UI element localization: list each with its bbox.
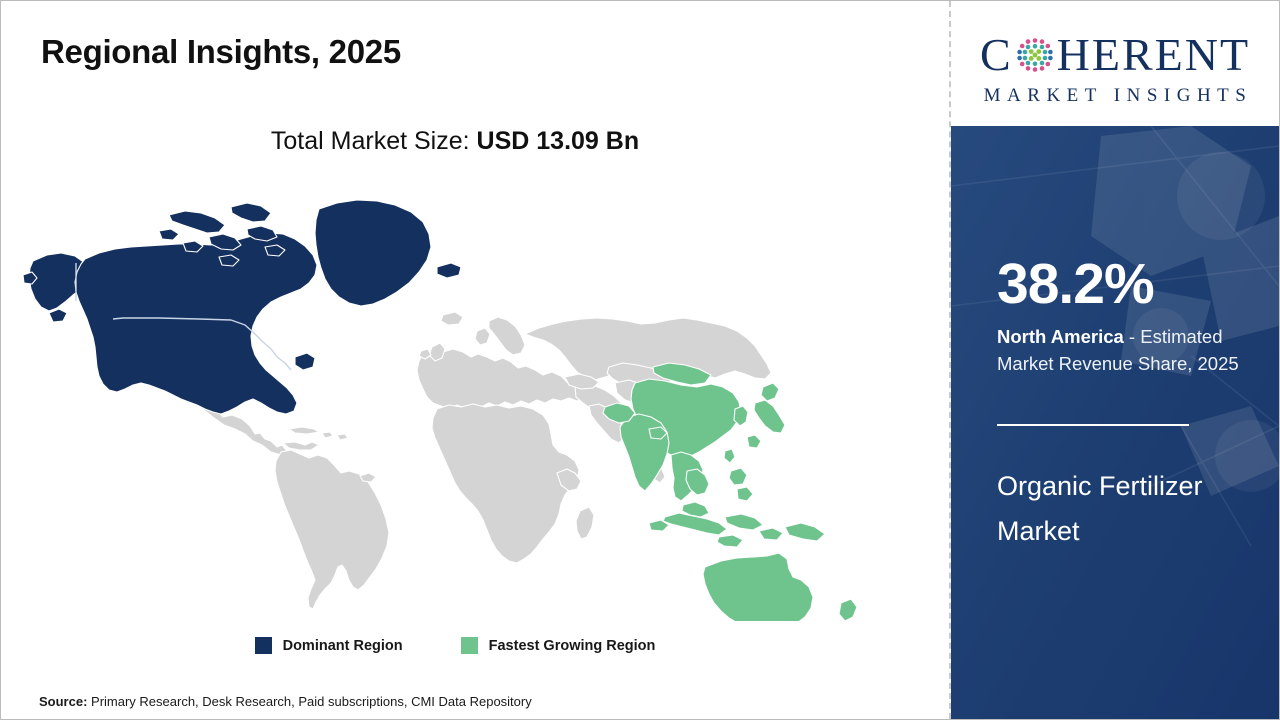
total-market-size-line: Total Market Size: USD 13.09 Bn — [1, 127, 909, 156]
stat-description: North America - Estimated Market Revenue… — [997, 323, 1265, 377]
company-logo: C — [951, 1, 1279, 126]
map-region-fastest-growing — [603, 363, 857, 621]
world-map — [19, 171, 899, 621]
legend-label-dominant: Dominant Region — [283, 638, 403, 654]
legend-item-fastest-growing: Fastest Growing Region — [461, 637, 656, 654]
stat-panel-content: 38.2% North America - Estimated Market R… — [997, 126, 1279, 719]
total-market-size-value: USD 13.09 Bn — [477, 127, 640, 155]
source-note: Source: Primary Research, Desk Research,… — [39, 694, 532, 709]
stat-divider-rule — [997, 424, 1189, 426]
world-map-svg — [19, 171, 899, 621]
logo-wordmark: C — [980, 27, 1250, 83]
source-label: Source: — [39, 694, 87, 709]
stat-percentage: 38.2% — [997, 256, 1154, 313]
right-sidebar: C — [951, 1, 1279, 719]
logo-text-herent: HERENT — [1057, 32, 1250, 78]
source-text: Primary Research, Desk Research, Paid su… — [87, 694, 531, 709]
stat-region-name: North America — [997, 326, 1124, 347]
legend-item-dominant: Dominant Region — [255, 637, 403, 654]
regional-insights-infographic: Regional Insights, 2025 Total Market Siz… — [0, 0, 1280, 720]
logo-tagline: MARKET INSIGHTS — [978, 85, 1253, 107]
legend-swatch-dominant — [255, 637, 272, 654]
map-region-dominant — [23, 200, 461, 414]
logo-letter-c: C — [980, 32, 1013, 78]
dotted-globe-icon — [1014, 34, 1056, 76]
map-legend: Dominant Region Fastest Growing Region — [1, 637, 909, 654]
market-name: Organic Fertilizer Market — [997, 464, 1257, 554]
legend-swatch-fastest-growing — [461, 637, 478, 654]
total-market-size-label: Total Market Size: — [271, 127, 470, 155]
left-content-area: Regional Insights, 2025 Total Market Siz… — [1, 1, 949, 719]
legend-label-fastest-growing: Fastest Growing Region — [489, 638, 656, 654]
stat-panel: 38.2% North America - Estimated Market R… — [951, 126, 1279, 719]
page-title: Regional Insights, 2025 — [41, 33, 401, 71]
